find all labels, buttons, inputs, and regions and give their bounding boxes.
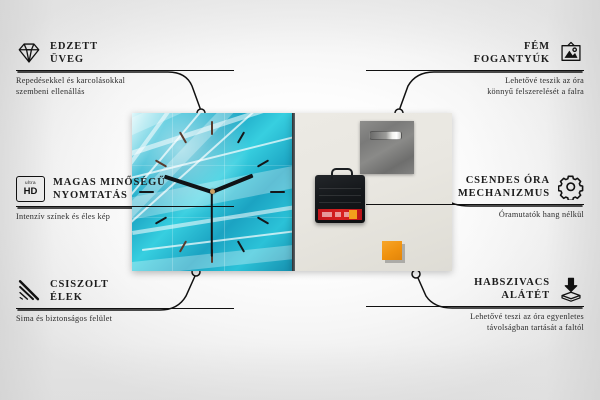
feature-divider (366, 306, 584, 307)
feature-title-line1: EDZETT (50, 41, 98, 52)
feature-title-line1: MAGAS MINŐSÉGŰ (53, 177, 166, 188)
feature-desc-line1: Sima és biztonságos felület (16, 314, 112, 323)
feature-title-line2: ALÁTÉT (501, 290, 550, 301)
feature-title-line2: MECHANIZMUS (458, 188, 550, 199)
feature-title-line2: ÉLEK (50, 292, 83, 303)
feature-metal-handles: FÉM FOGANTYÚK Lehetővé teszik az óra kön… (366, 40, 584, 97)
feature-divider (16, 70, 234, 71)
feature-silent-mechanism: CSENDES ÓRA MECHANIZMUS Óramutatók hang … (366, 174, 584, 220)
arrow-down-pad-icon (558, 276, 584, 302)
feature-desc-line1: Lehetővé teszik az óra (505, 76, 584, 85)
diamond-icon (16, 40, 42, 66)
polished-edges-icon (16, 278, 42, 304)
feature-title-line2: FOGANTYÚK (474, 54, 550, 65)
feature-divider (366, 204, 584, 205)
clock-mechanism-part (315, 175, 365, 223)
infographic-canvas: EDZETT ÜVEG Repedésekkel és karcolásokka… (0, 0, 600, 400)
feature-divider (16, 206, 234, 207)
feature-title-line1: FÉM (524, 41, 550, 52)
feature-desc-line1: Repedésekkel és karcolásokkal (16, 76, 125, 85)
feature-polished-edges: CSISZOLT ÉLEK Sima és biztonságos felüle… (16, 278, 234, 324)
mechanism-loop (331, 168, 353, 179)
mechanism-label (318, 209, 362, 220)
feature-title-line2: ÜVEG (50, 54, 84, 65)
feature-tempered-glass: EDZETT ÜVEG Repedésekkel és karcolásokka… (16, 40, 234, 97)
feature-high-quality-print: ultra HD MAGAS MINŐSÉGŰ NYOMTATÁS Intenz… (16, 176, 234, 222)
feature-title-line1: CSENDES ÓRA (466, 175, 550, 186)
ultra-hd-icon: ultra HD (16, 176, 45, 202)
feature-desc-line2: könnyű felszerelését a falra (487, 87, 584, 96)
feature-divider (16, 308, 234, 309)
feature-desc-line1: Lehetővé teszi az óra egyenletes (470, 312, 584, 321)
picture-frame-hanger-icon (558, 40, 584, 66)
feature-desc-line2: szembeni ellenállás (16, 87, 85, 96)
feature-divider (366, 70, 584, 71)
foam-pad-part (382, 241, 402, 260)
gear-icon (558, 174, 584, 200)
hanger-slot (369, 131, 402, 140)
ultra-hd-large-text: HD (24, 187, 38, 197)
feature-desc-line1: Intenzív színek és éles kép (16, 212, 110, 221)
feature-desc-line2: távolságban tartását a faltól (487, 323, 584, 332)
feature-title-line1: HABSZIVACS (474, 277, 550, 288)
feature-desc-line1: Óramutatók hang nélkül (499, 210, 584, 219)
metal-hanger-part (360, 121, 414, 174)
feature-foam-spacer: HABSZIVACS ALÁTÉT Lehetővé teszi az óra … (366, 276, 584, 333)
feature-title-line2: NYOMTATÁS (53, 190, 128, 201)
feature-title-line1: CSISZOLT (50, 279, 109, 290)
